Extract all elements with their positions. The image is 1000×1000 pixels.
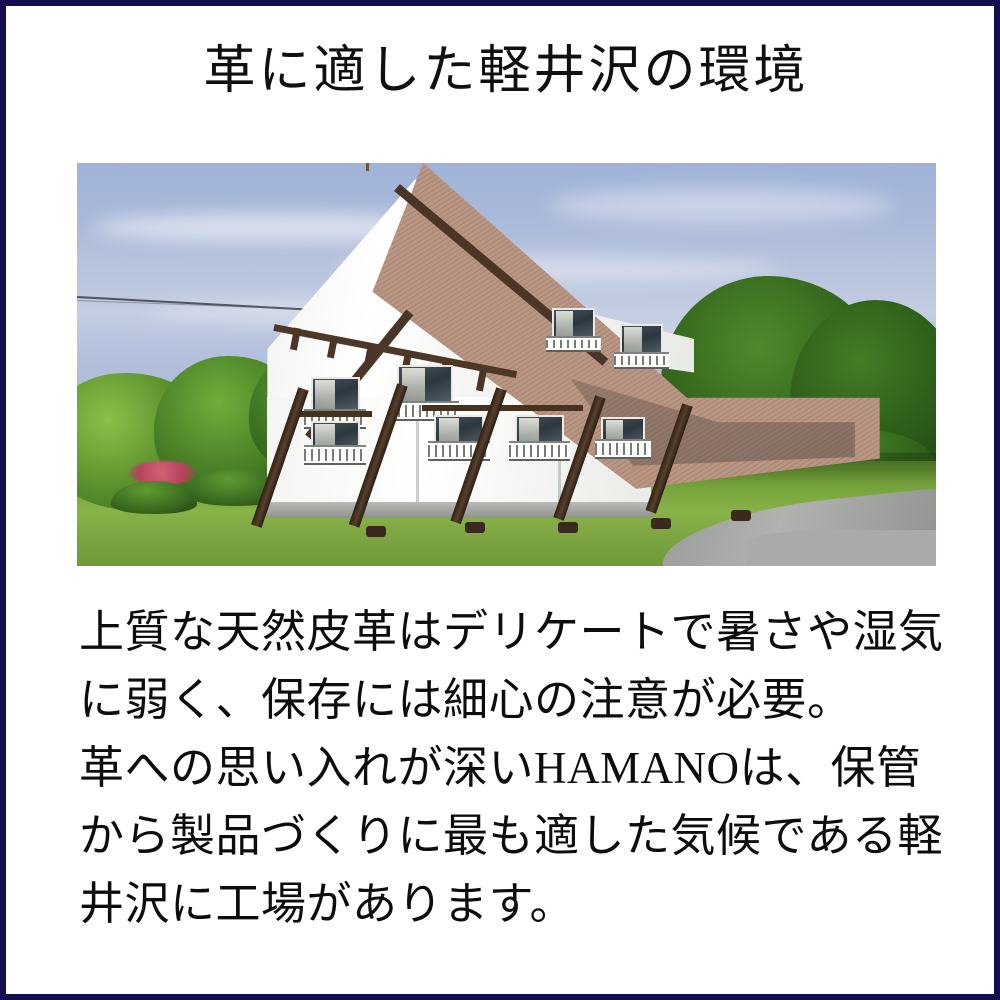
- window-hood: [298, 411, 372, 417]
- balcony-railing: [509, 441, 571, 461]
- factory-photo: [77, 163, 936, 566]
- body-line: 革への思い入れが深いHAMANOは、保管: [79, 734, 949, 802]
- window-hood: [502, 405, 582, 411]
- balcony-railing: [614, 352, 670, 368]
- page-root: 革に適した軽井沢の環境: [0, 0, 1000, 1000]
- photo-scene: [77, 163, 936, 566]
- body-paragraph: 上質な天然皮革はデリケートで暑さや湿気 に弱く、保存には細心の注意が必要。 革へ…: [79, 598, 949, 938]
- page-title: 革に適した軽井沢の環境: [6, 40, 1000, 103]
- strut-footing: [558, 522, 578, 533]
- body-line: 井沢に工場があります。: [79, 870, 949, 938]
- roof-ridge: [366, 163, 369, 171]
- balcony-railing: [304, 445, 366, 465]
- body-line: から製品づくりに最も適した気候である軽: [79, 802, 949, 870]
- balcony-railing: [595, 439, 651, 459]
- strut-footing: [651, 518, 671, 529]
- body-line: に弱く、保存には細心の注意が必要。: [79, 666, 949, 734]
- strut-footing: [366, 526, 386, 537]
- strut-footing: [465, 522, 485, 533]
- strut-footing: [731, 510, 751, 521]
- a-frame-house: [249, 163, 867, 566]
- body-line: 上質な天然皮革はデリケートで暑さや湿気: [79, 598, 949, 666]
- balcony-railing: [546, 336, 602, 352]
